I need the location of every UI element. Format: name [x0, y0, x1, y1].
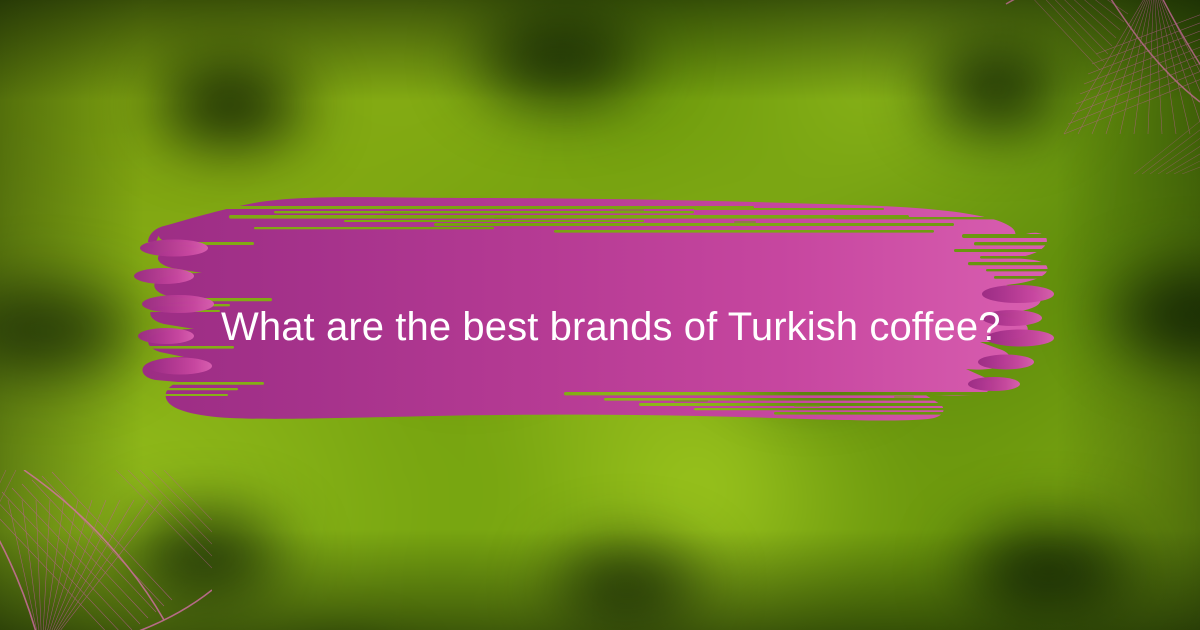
- page-title: What are the best brands of Turkish coff…: [221, 304, 1021, 351]
- wireframe-mesh-icon-bottom-left: [0, 470, 212, 630]
- social-share-card: What are the best brands of Turkish coff…: [0, 0, 1200, 630]
- wireframe-mesh-icon-top-right: [1004, 0, 1200, 174]
